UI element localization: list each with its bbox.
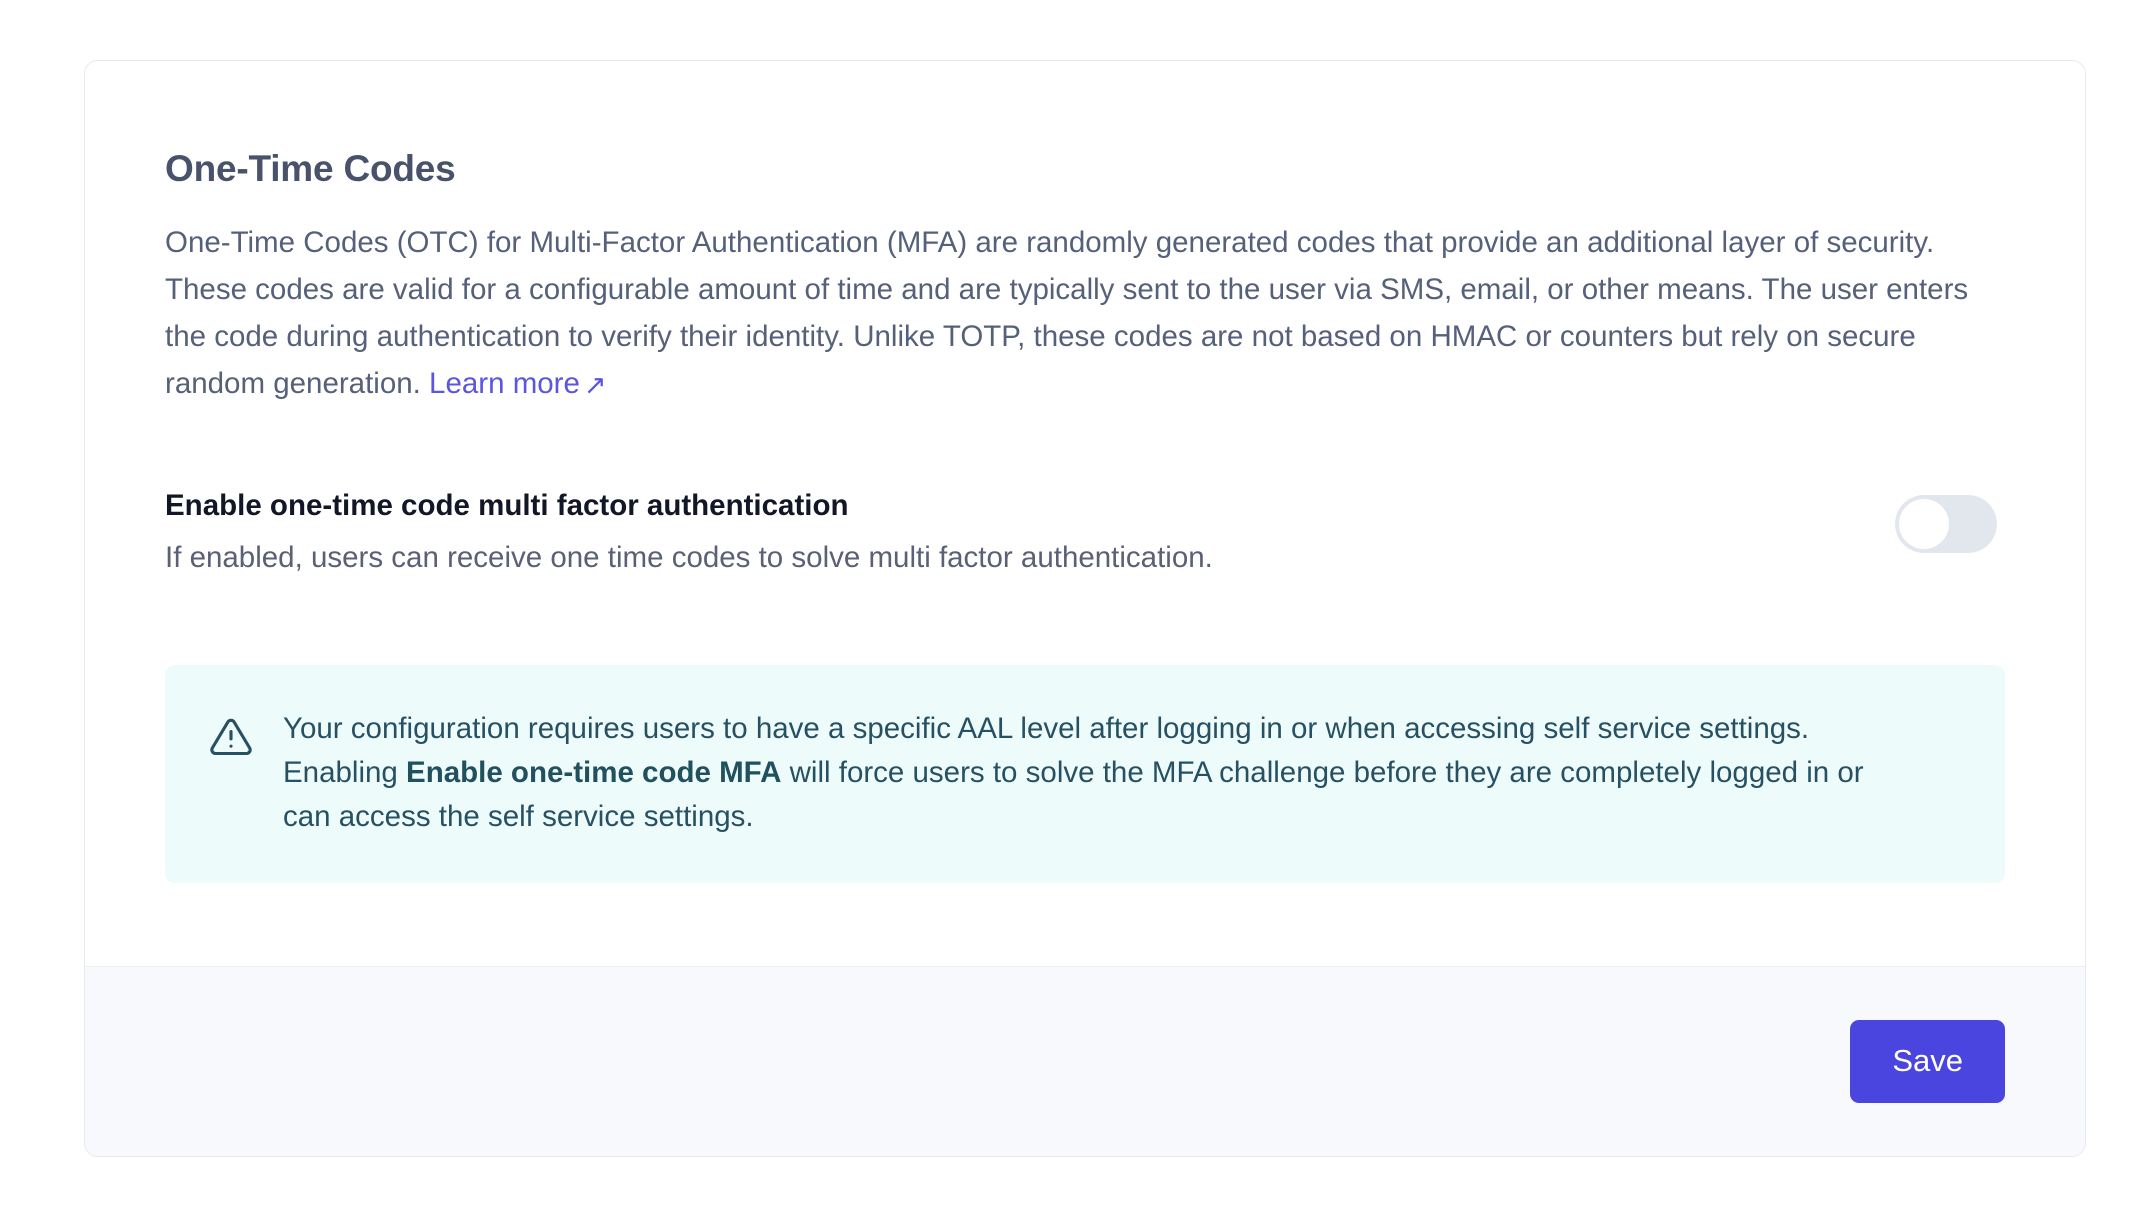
toggle-knob	[1899, 499, 1949, 549]
save-button[interactable]: Save	[1850, 1020, 2005, 1103]
page-root: One-Time Codes One-Time Codes (OTC) for …	[0, 0, 2146, 1218]
learn-more-label: Learn more	[429, 367, 580, 400]
callout-text: Your configuration requires users to hav…	[283, 707, 1903, 839]
page-title: One-Time Codes	[165, 147, 2005, 191]
learn-more-link[interactable]: Learn more↗	[429, 367, 606, 400]
enable-one-time-code-mfa-toggle[interactable]	[1895, 495, 1997, 553]
external-link-arrow-icon: ↗	[584, 372, 607, 399]
setting-label: Enable one-time code multi factor authen…	[165, 487, 1855, 525]
card-body: One-Time Codes One-Time Codes (OTC) for …	[85, 61, 2085, 966]
aal-warning-callout: Your configuration requires users to hav…	[165, 665, 2005, 883]
setting-description: If enabled, users can receive one time c…	[165, 539, 1855, 577]
callout-bold-phrase: Enable one-time code MFA	[406, 756, 781, 789]
alert-triangle-icon	[209, 715, 253, 759]
setting-text-block: Enable one-time code multi factor authen…	[165, 487, 1855, 577]
setting-row-enable-otc-mfa: Enable one-time code multi factor authen…	[165, 487, 2005, 577]
one-time-codes-card: One-Time Codes One-Time Codes (OTC) for …	[84, 60, 2086, 1157]
card-description: One-Time Codes (OTC) for Multi-Factor Au…	[165, 219, 2005, 407]
card-footer: Save	[85, 966, 2085, 1156]
